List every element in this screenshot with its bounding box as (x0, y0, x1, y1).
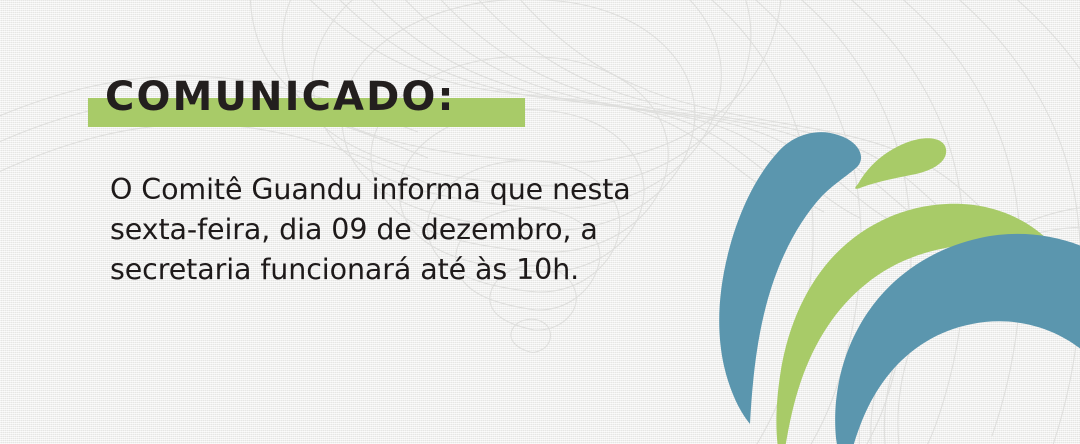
body-line-1: O Comitê Guandu informa que nesta (110, 170, 750, 210)
headline-block: COMUNICADO: (88, 72, 456, 128)
green-wing-large-shape (776, 204, 1046, 444)
body-line-3: secretaria funcionará até às 10h. (110, 250, 750, 290)
body-line-2: sexta-feira, dia 09 de dezembro, a (110, 210, 750, 250)
announcement-banner: COMUNICADO: O Comitê Guandu informa que … (0, 0, 1080, 444)
green-leaf-small-shape (855, 138, 946, 189)
announcement-body: O Comitê Guandu informa que nesta sexta-… (110, 170, 750, 290)
page-title: COMUNICADO: (88, 72, 456, 122)
teal-arc-large-shape (835, 234, 1080, 444)
